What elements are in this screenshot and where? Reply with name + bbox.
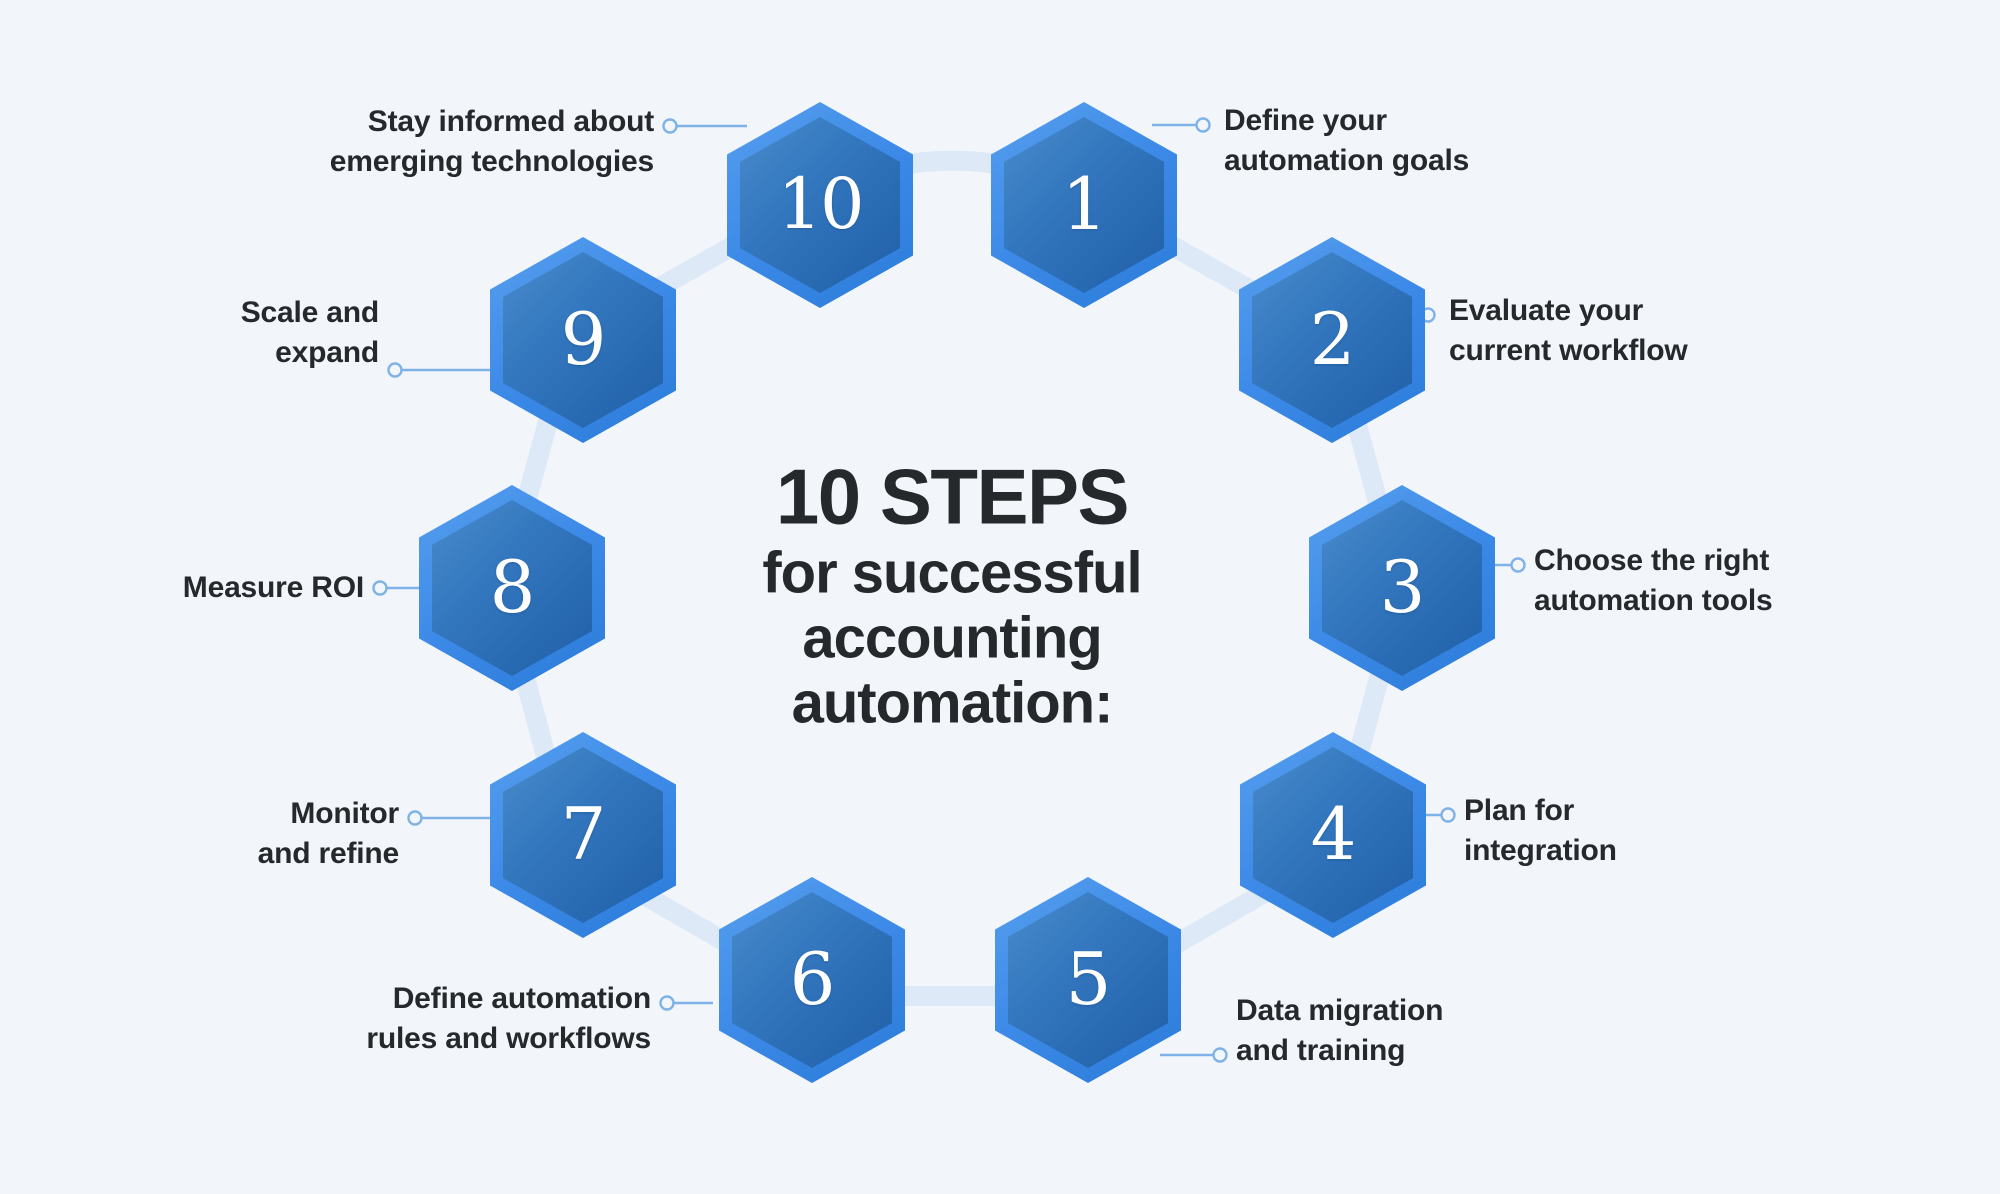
- connector-dot-5: [1214, 1049, 1227, 1062]
- headline: 10 STEPS: [692, 458, 1212, 536]
- step-node-4[interactable]: 4: [1240, 732, 1426, 938]
- label-line: Define automation: [366, 979, 651, 1019]
- step-number: 2: [1239, 237, 1425, 443]
- label-line: Measure ROI: [183, 568, 364, 608]
- label-line: Monitor: [258, 794, 399, 834]
- connector-dot-7: [409, 812, 422, 825]
- step-label-3: Choose the right automation tools: [1534, 541, 1772, 621]
- step-label-10: Stay informed about emerging technologie…: [330, 102, 654, 182]
- step-label-1: Define your automation goals: [1224, 101, 1469, 181]
- step-number: 4: [1240, 732, 1426, 938]
- step-number: 8: [419, 485, 605, 691]
- label-line: Choose the right: [1534, 541, 1772, 581]
- label-line: automation goals: [1224, 141, 1469, 181]
- connector-dot-8: [374, 582, 387, 595]
- step-label-2: Evaluate your current workflow: [1449, 291, 1688, 371]
- connector-dot-6: [661, 997, 674, 1010]
- label-line: and training: [1236, 1031, 1443, 1071]
- label-line: emerging technologies: [330, 142, 654, 182]
- label-line: Stay informed about: [330, 102, 654, 142]
- subline-3: automation:: [692, 671, 1212, 736]
- step-number: 3: [1309, 485, 1495, 691]
- connector-dot-9: [389, 364, 402, 377]
- step-label-7: Monitor and refine: [258, 794, 399, 874]
- step-number: 5: [995, 877, 1181, 1083]
- label-line: Data migration: [1236, 991, 1443, 1031]
- label-line: and refine: [258, 834, 399, 874]
- label-line: current workflow: [1449, 331, 1688, 371]
- infographic-canvas: 1 2 3 4 5 6 7 8 9: [0, 0, 2000, 1194]
- step-node-7[interactable]: 7: [490, 732, 676, 938]
- step-node-3[interactable]: 3: [1309, 485, 1495, 691]
- center-title: 10 STEPS for successful accounting autom…: [692, 458, 1212, 737]
- step-node-6[interactable]: 6: [719, 877, 905, 1083]
- label-line: automation tools: [1534, 581, 1772, 621]
- step-node-9[interactable]: 9: [490, 237, 676, 443]
- subline-2: accounting: [692, 607, 1212, 672]
- connector-dot-4: [1442, 809, 1455, 822]
- step-label-6: Define automation rules and workflows: [366, 979, 651, 1059]
- step-label-4: Plan for integration: [1464, 791, 1617, 871]
- step-number: 9: [490, 237, 676, 443]
- label-line: Scale and: [241, 293, 379, 333]
- step-number: 7: [490, 732, 676, 938]
- connector-dot-1: [1197, 119, 1210, 132]
- step-node-2[interactable]: 2: [1239, 237, 1425, 443]
- step-node-5[interactable]: 5: [995, 877, 1181, 1083]
- label-line: rules and workflows: [366, 1019, 651, 1059]
- step-number: 1: [991, 102, 1177, 308]
- step-number: 10: [727, 102, 913, 308]
- step-node-1[interactable]: 1: [991, 102, 1177, 308]
- label-line: expand: [241, 333, 379, 373]
- label-line: Evaluate your: [1449, 291, 1688, 331]
- step-number: 6: [719, 877, 905, 1083]
- label-line: integration: [1464, 831, 1617, 871]
- step-label-8: Measure ROI: [183, 568, 364, 608]
- step-label-5: Data migration and training: [1236, 991, 1443, 1071]
- subline-1: for successful: [692, 542, 1212, 607]
- connector-dot-3: [1512, 559, 1525, 572]
- connector-dot-10: [664, 120, 677, 133]
- step-node-10[interactable]: 10: [727, 102, 913, 308]
- step-node-8[interactable]: 8: [419, 485, 605, 691]
- label-line: Define your: [1224, 101, 1469, 141]
- step-label-9: Scale and expand: [241, 293, 379, 373]
- label-line: Plan for: [1464, 791, 1617, 831]
